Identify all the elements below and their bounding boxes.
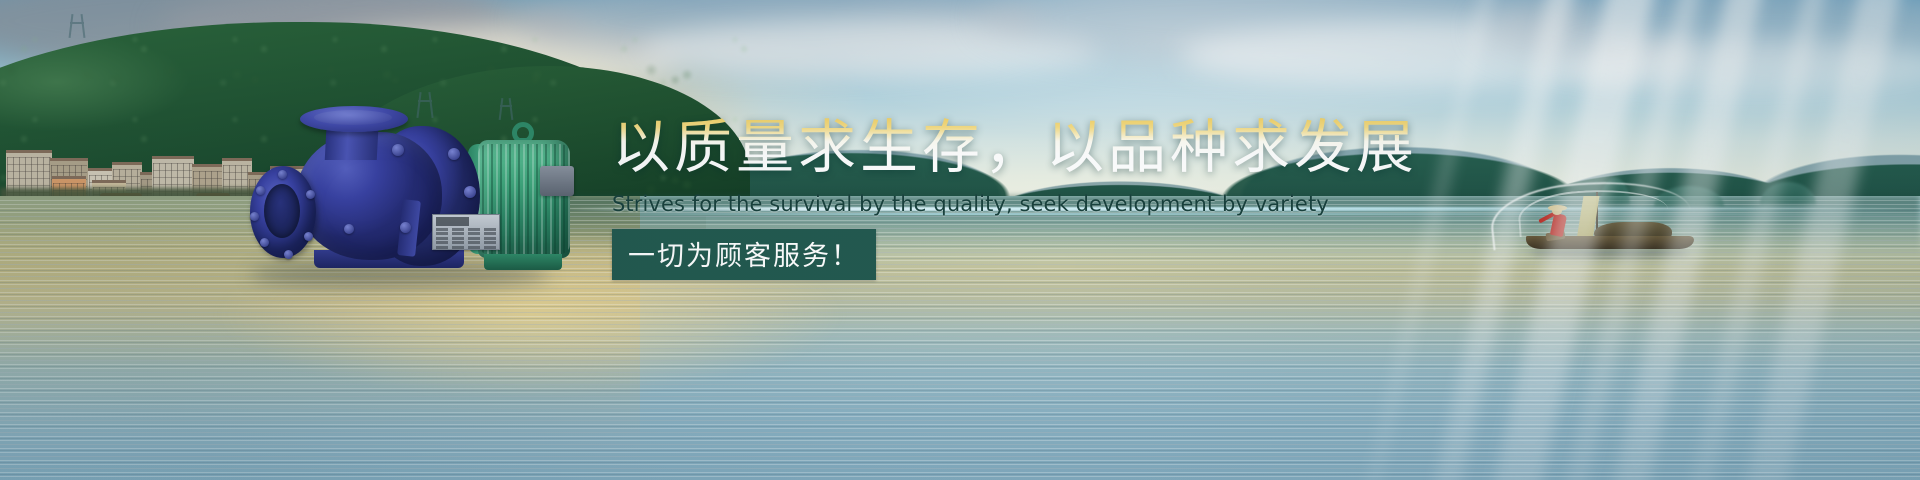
casing-bolt bbox=[400, 222, 411, 233]
nameplate-spec-line bbox=[436, 237, 496, 240]
nameplate-title-line bbox=[436, 217, 496, 226]
casing-bolt bbox=[344, 224, 354, 234]
casing-bolt bbox=[392, 144, 404, 156]
pump-discharge-flange-inner bbox=[314, 110, 392, 125]
pump-nameplate bbox=[432, 214, 500, 250]
motor-foot bbox=[484, 254, 562, 270]
casing-bolt bbox=[464, 186, 476, 198]
banner-badge-wrapper: 一切为顾客服务！ bbox=[612, 229, 1512, 280]
banner-text-block: 以质量求生存，以品种求发展 Strives for the survival b… bbox=[612, 118, 1512, 280]
flange-bolt bbox=[250, 212, 259, 221]
motor-terminal-box bbox=[540, 166, 574, 196]
nameplate-spec-line bbox=[436, 232, 496, 235]
casing-bolt bbox=[448, 148, 460, 160]
banner-subheadline: Strives for the survival by the quality,… bbox=[612, 192, 1512, 216]
transmission-pylon bbox=[70, 14, 84, 38]
flange-bolt bbox=[306, 190, 315, 199]
product-pump-image bbox=[240, 104, 570, 294]
flange-bolt bbox=[304, 232, 313, 241]
banner-headline: 以质量求生存，以品种求发展 bbox=[612, 118, 1512, 176]
pump-suction-bore bbox=[264, 184, 300, 238]
service-slogan-badge: 一切为顾客服务！ bbox=[612, 229, 876, 280]
flange-bolt bbox=[284, 250, 293, 259]
flange-bolt bbox=[260, 238, 269, 247]
nameplate-spec-line bbox=[436, 246, 496, 249]
flange-bolt bbox=[278, 170, 287, 179]
hero-banner: 以质量求生存，以品种求发展 Strives for the survival b… bbox=[0, 0, 1920, 480]
nameplate-spec-line bbox=[436, 241, 496, 244]
nameplate-spec-line bbox=[436, 228, 496, 231]
flange-bolt bbox=[256, 186, 265, 195]
